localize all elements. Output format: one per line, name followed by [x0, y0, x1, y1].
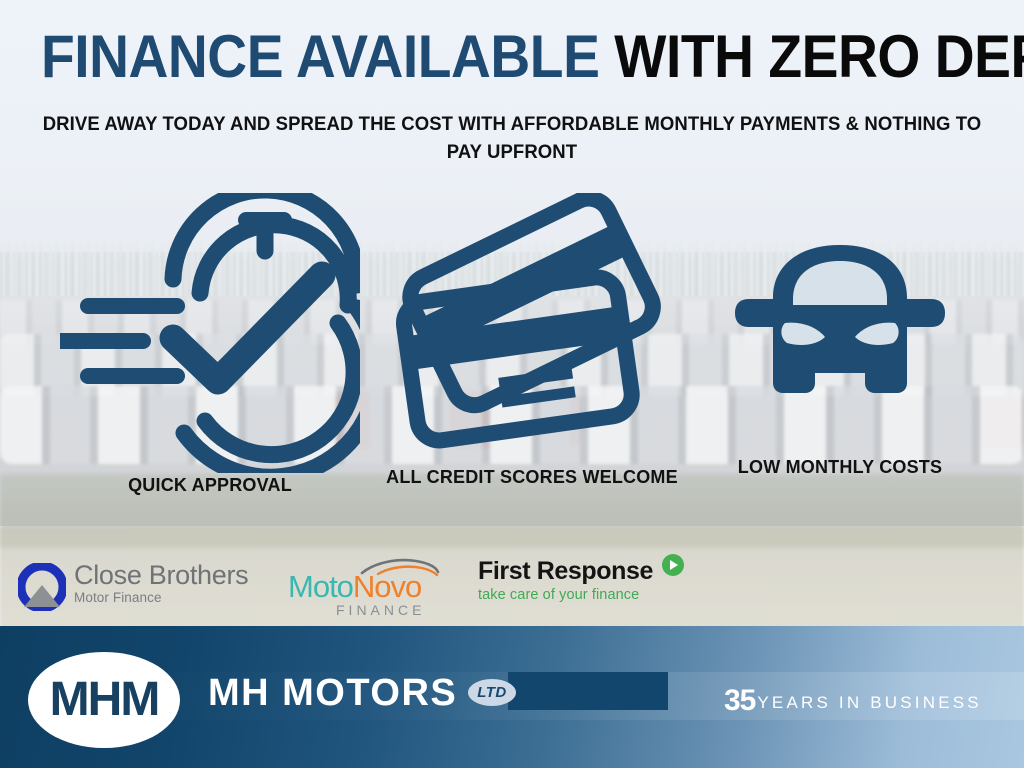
car-front-icon	[660, 190, 1020, 475]
headline-secondary: WITH ZERO DEPOSIT	[614, 23, 1024, 90]
credit-cards-icon	[352, 190, 712, 475]
motonovo-subtitle: FINANCE	[336, 602, 425, 618]
motonovo-word-first: Moto	[288, 569, 353, 604]
years-number: 35	[724, 686, 755, 716]
lender-name: Close Brothers	[74, 560, 248, 590]
logo-close-brothers: Close Brothers Motor Finance	[18, 558, 258, 616]
page-title: FINANCE AVAILABLE WITH ZERO DEPOSIT	[41, 26, 983, 88]
logo-motonovo: MotoNovo FINANCE	[288, 558, 448, 618]
mhm-logo-badge: MHM	[28, 652, 180, 748]
lender-subtitle: Motor Finance	[74, 590, 248, 606]
mhm-monogram-text: MHM	[49, 675, 159, 725]
motonovo-wordmark: MotoNovo	[288, 570, 421, 604]
stopwatch-check-icon	[30, 190, 390, 475]
ltd-badge-text: LTD	[477, 684, 507, 701]
logo-first-response: First Response take care of your finance	[478, 556, 678, 618]
play-arrow-icon	[662, 554, 684, 576]
motonovo-word-second: Novo	[353, 569, 421, 604]
lender-logo-strip: Close Brothers Motor Finance MotoNovo FI…	[0, 552, 1024, 626]
lender-name: First Response	[478, 556, 678, 586]
finance-promo-banner: FINANCE AVAILABLE WITH ZERO DEPOSIT DRIV…	[0, 0, 1024, 768]
feature-label: LOW MONTHLY COSTS	[660, 457, 1020, 478]
lender-tagline: take care of your finance	[478, 586, 678, 605]
feature-low-monthly-costs: LOW MONTHLY COSTS	[660, 190, 1020, 496]
close-brothers-wordmark: Close Brothers Motor Finance	[74, 560, 248, 606]
headline-primary: FINANCE AVAILABLE	[41, 23, 599, 90]
years-label: YEARS IN BUSINESS	[757, 693, 981, 713]
feature-all-credit-scores: ALL CREDIT SCORES WELCOME	[352, 190, 712, 496]
ltd-badge: LTD	[468, 679, 516, 706]
page-subtitle: DRIVE AWAY TODAY AND SPREAD THE COST WIT…	[39, 110, 985, 166]
close-brothers-mark-icon	[18, 563, 66, 611]
footer-accent-block	[508, 672, 668, 710]
feature-list: QUICK APPROVAL	[0, 190, 1024, 530]
brand-name: MH MOTORS	[208, 672, 457, 714]
feature-label: ALL CREDIT SCORES WELCOME	[352, 467, 712, 488]
years-in-business: 35 YEARS IN BUSINESS	[724, 684, 982, 714]
mhm-monogram: MHM	[49, 675, 159, 725]
feature-quick-approval: QUICK APPROVAL	[30, 190, 390, 496]
feature-label: QUICK APPROVAL	[30, 475, 390, 496]
